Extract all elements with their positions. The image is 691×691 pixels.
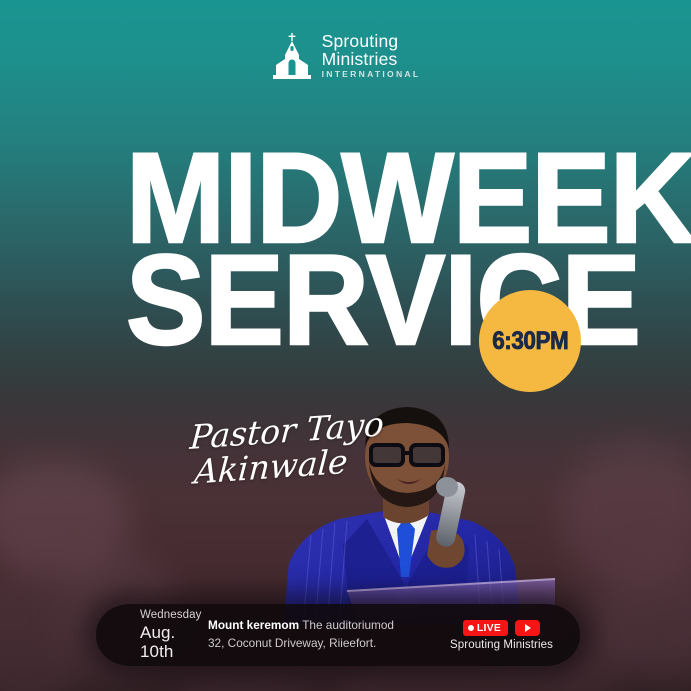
service-time-badge: 6:30PM bbox=[479, 290, 581, 392]
live-row: LIVE bbox=[463, 620, 540, 636]
venue-name-row: Mount keremom The auditoriumod bbox=[208, 617, 423, 635]
info-bar: Wednesday Aug. 10th Mount keremom The au… bbox=[96, 604, 580, 666]
speaker-signature: Pastor Tayo Akinwale bbox=[172, 414, 402, 482]
live-label: LIVE bbox=[477, 622, 501, 634]
venue-name: Mount keremom bbox=[208, 618, 299, 632]
date-value: Aug. 10th bbox=[140, 623, 208, 662]
venue-block: Mount keremom The auditoriumod 32, Cocon… bbox=[208, 617, 423, 652]
youtube-icon[interactable] bbox=[515, 620, 540, 636]
flyer-canvas: Sprouting Ministries INTERNATIONAL MIDWE… bbox=[0, 0, 691, 691]
live-badge: LIVE bbox=[463, 620, 508, 636]
live-stream-block: LIVE Sprouting Ministries bbox=[423, 620, 580, 651]
brand-logo: Sprouting Ministries INTERNATIONAL bbox=[0, 33, 691, 79]
live-dot-icon bbox=[468, 625, 474, 631]
play-triangle-icon bbox=[525, 624, 531, 632]
church-icon bbox=[271, 33, 313, 79]
logo-line-3: INTERNATIONAL bbox=[322, 70, 421, 79]
date-weekday: Wednesday bbox=[140, 608, 208, 622]
live-channel-name: Sprouting Ministries bbox=[450, 639, 553, 651]
venue-hall: The auditoriumod bbox=[302, 618, 394, 632]
venue-address: 32, Coconut Driveway, Riieefort. bbox=[208, 635, 423, 653]
date-block: Wednesday Aug. 10th bbox=[96, 608, 208, 661]
logo-line-2: Ministries bbox=[322, 51, 421, 69]
service-time-label: 6:30PM bbox=[492, 327, 568, 356]
